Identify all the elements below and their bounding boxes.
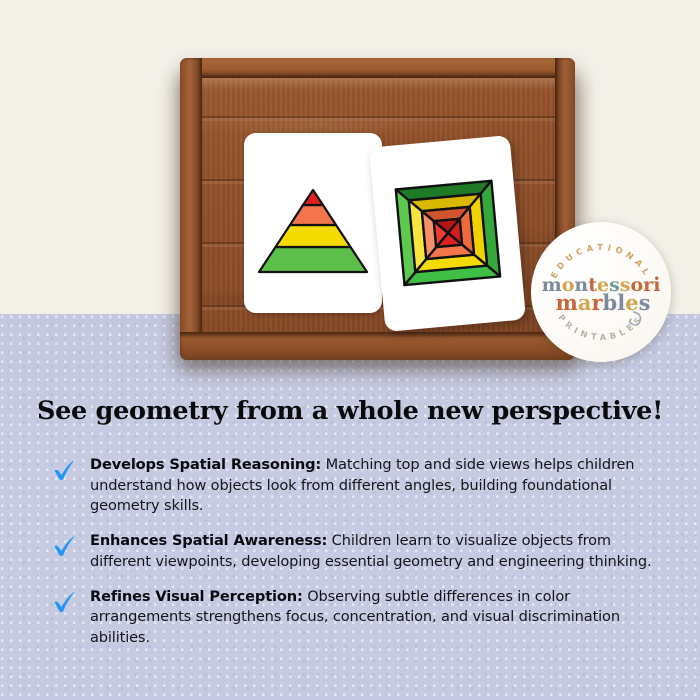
list-item-lead: Develops Spatial Reasoning: xyxy=(90,456,321,473)
benefits-list: Develops Spatial Reasoning: Matching top… xyxy=(52,455,662,663)
list-item: Develops Spatial Reasoning: Matching top… xyxy=(52,455,662,517)
list-item-text: Enhances Spatial Awareness: Children lea… xyxy=(90,531,662,572)
brand-badge: EDUCATIONAL PRINTABLES montessori marble… xyxy=(531,222,671,362)
side-view-card[interactable] xyxy=(244,133,382,313)
tray-rim-bottom xyxy=(180,332,575,360)
badge-bottom-arc-label: PRINTABLES xyxy=(556,312,645,342)
check-icon xyxy=(52,534,78,563)
list-item-lead: Refines Visual Perception: xyxy=(90,588,303,605)
list-item: Refines Visual Perception: Observing sub… xyxy=(52,587,662,649)
tray-rim-left xyxy=(180,58,202,360)
pyramid-side-view-figure xyxy=(257,168,369,280)
list-item-text: Refines Visual Perception: Observing sub… xyxy=(90,587,662,649)
check-icon xyxy=(52,590,78,619)
brand-badge-artwork: EDUCATIONAL PRINTABLES montessori marble… xyxy=(531,222,671,362)
check-icon xyxy=(52,458,78,487)
tray-inner-highlight xyxy=(202,78,555,90)
promo-graphic: EDUCATIONAL PRINTABLES montessori marble… xyxy=(0,0,700,700)
list-item-lead: Enhances Spatial Awareness: xyxy=(90,532,327,549)
ring-center-red xyxy=(434,219,462,247)
pyramid-layer-apex xyxy=(303,190,323,205)
tray-rim-top xyxy=(180,58,575,78)
pyramid-layer-upper xyxy=(290,205,336,225)
pyramid-layer-middle xyxy=(276,225,351,247)
top-view-card[interactable] xyxy=(369,135,526,332)
page-title: See geometry from a whole new perspectiv… xyxy=(0,396,700,426)
list-item: Enhances Spatial Awareness: Children lea… xyxy=(52,531,662,572)
pyramid-layer-base xyxy=(259,247,367,272)
pyramid-top-view-figure xyxy=(387,164,508,301)
brand-wordmark-line-2: marbles xyxy=(556,290,651,315)
list-item-text: Develops Spatial Reasoning: Matching top… xyxy=(90,455,662,517)
